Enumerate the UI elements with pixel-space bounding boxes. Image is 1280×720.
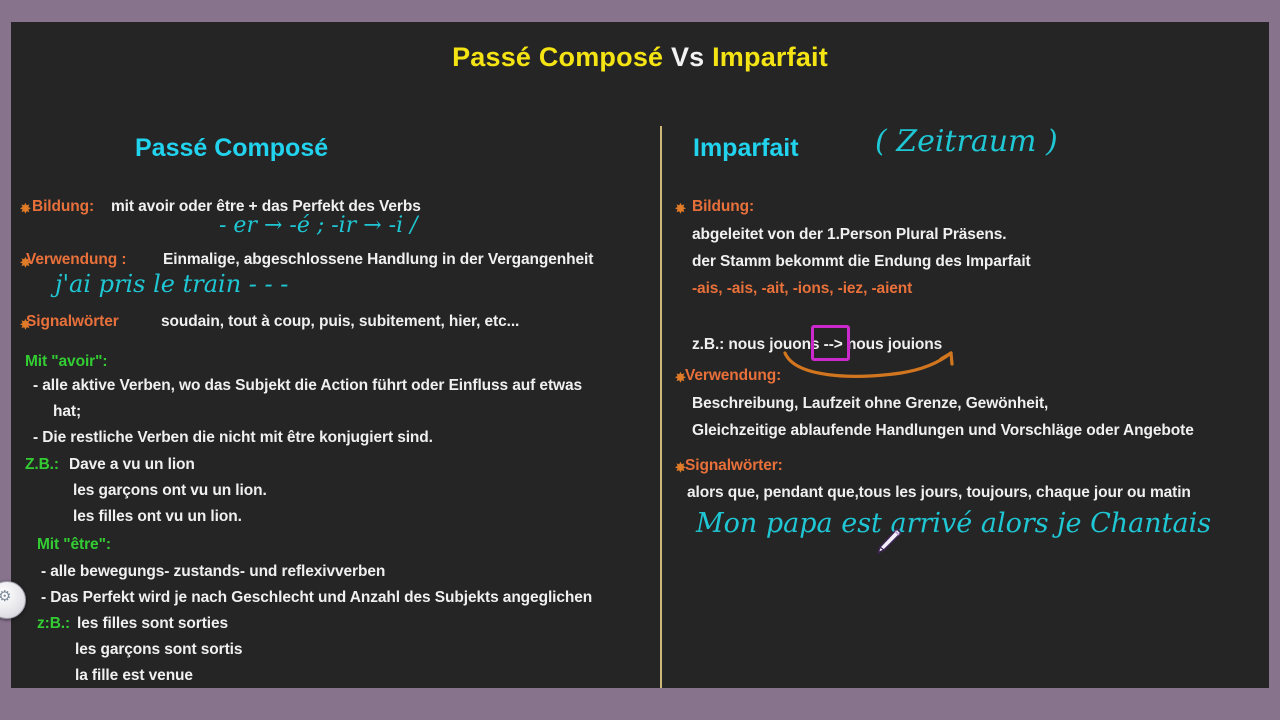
ink-example-jai-pris: j'ai pris le train - - - [55, 270, 288, 298]
text-imparfait-endings: -ais, -ais, -ait, -ions, -iez, -aient [692, 280, 912, 298]
label-verwendung-left: Verwendung : [26, 251, 126, 269]
text-signalwoerter-left: soudain, tout à coup, puis, subitement, … [161, 313, 519, 331]
title-part-passe-compose: Passé Composé [452, 42, 663, 72]
label-signalwoerter-left: Signalwörter [26, 313, 119, 331]
title-part-imparfait: Imparfait [712, 42, 828, 72]
subheading-mit-avoir: Mit "avoir": [25, 353, 107, 371]
bullet-avoir-3: - Die restliche Verben die nicht mit êtr… [33, 429, 433, 447]
ink-endings-annotation: - er → -é ; -ir → -i / [219, 213, 418, 238]
text-verwendung-right-2: Gleichzeitige ablaufende Handlungen und … [692, 422, 1194, 440]
pen-cursor-icon [871, 525, 905, 559]
column-divider [660, 126, 662, 688]
example-etre-0: les filles sont sorties [77, 615, 228, 633]
ink-sentence-mon-papa: Mon papa est arrivé alors je Chantais [696, 508, 1211, 539]
subheading-mit-etre: Mit "être": [37, 536, 111, 554]
text-bildung-right-2: der Stamm bekommt die Endung des Imparfa… [692, 253, 1031, 271]
label-zb-avoir: Z.B.: [25, 456, 59, 474]
label-bildung-left: Bildung: [32, 198, 94, 216]
title-part-vs: Vs [671, 42, 704, 72]
label-verwendung-right: Verwendung: [685, 367, 781, 385]
column-heading-imparfait: Imparfait [693, 134, 799, 163]
column-heading-passe-compose: Passé Composé [135, 134, 328, 163]
example-avoir-2: les filles ont vu un lion. [73, 508, 242, 526]
bullet-star-icon: ✸ [20, 202, 31, 215]
slide-canvas-page: Passé Composé Vs Imparfait Passé Composé… [0, 0, 1280, 720]
bullet-etre-2: - Das Perfekt wird je nach Geschlecht un… [41, 589, 592, 607]
ink-zeitraum-annotation: ( Zeitraum ) [875, 124, 1058, 159]
text-signalwoerter-right: alors que, pendant que,tous les jours, t… [687, 484, 1191, 502]
text-bildung-right-1: abgeleitet von der 1.Person Plural Präse… [692, 226, 1006, 244]
gear-icon: ⚙ [0, 589, 11, 604]
example-avoir-0: Dave a vu un lion [69, 456, 195, 474]
example-avoir-1: les garçons ont vu un lion. [73, 482, 267, 500]
bullet-avoir-1: - alle aktive Verben, wo das Subjekt die… [33, 377, 582, 395]
example-etre-2: la fille est venue [75, 667, 193, 685]
label-signalwoerter-right: Signalwörter: [685, 457, 783, 475]
curved-arrow-annotation [781, 347, 981, 385]
bullet-star-icon: ✸ [675, 202, 686, 215]
whiteboard-board[interactable]: Passé Composé Vs Imparfait Passé Composé… [11, 22, 1269, 688]
bullet-avoir-2: hat; [53, 403, 81, 421]
page-title: Passé Composé Vs Imparfait [11, 42, 1269, 73]
label-bildung-right: Bildung: [692, 198, 754, 216]
text-bildung-left: mit avoir oder être + das Perfekt des Ve… [111, 198, 421, 216]
text-verwendung-left: Einmalige, abgeschlossene Handlung in de… [163, 251, 593, 269]
example-etre-1: les garçons sont sortis [75, 641, 242, 659]
label-zb-etre: z:B.: [37, 615, 70, 633]
text-verwendung-right-1: Beschreibung, Laufzeit ohne Grenze, Gewö… [692, 395, 1048, 413]
bullet-etre-1: - alle bewegungs- zustands- und reflexiv… [41, 563, 385, 581]
